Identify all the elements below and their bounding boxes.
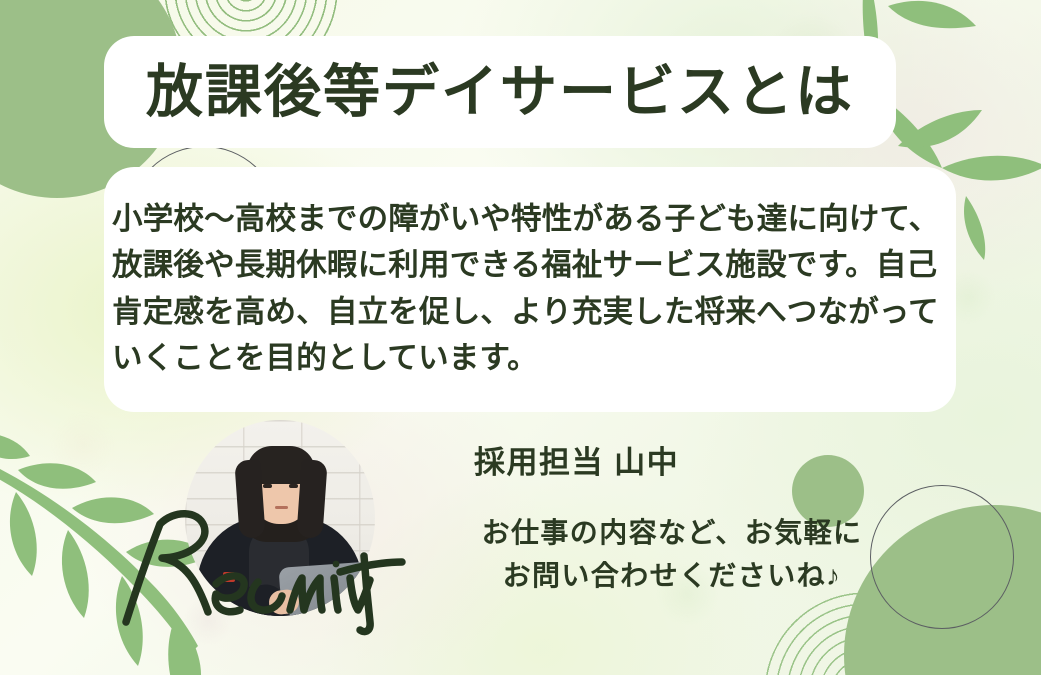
photo-eye-left [263,484,272,488]
description-text: 小学校〜高校までの障がいや特性がある子ども達に向けて、放課後や長期休暇に利用でき… [112,196,950,381]
invite-message: お仕事の内容など、お気軽に お問い合わせくださいね♪ [452,512,892,597]
recruiter-photo [185,420,375,616]
photo-hair-left [234,459,265,539]
photo-eye-right [289,484,298,488]
invite-line-2: お問い合わせくださいね♪ [452,555,892,598]
photo-hair-right [296,459,327,539]
recruiter-name: 採用担当 山中 [474,437,679,482]
photo-mouth [275,506,288,509]
invite-line-1: お仕事の内容など、お気軽に [452,512,892,555]
photo-name-badge [223,572,235,582]
poster-canvas: 放課後等デイサービスとは 小学校〜高校までの障がいや特性がある子ども達に向けて、… [0,0,1041,675]
page-title: 放課後等デイサービスとは [104,36,896,148]
